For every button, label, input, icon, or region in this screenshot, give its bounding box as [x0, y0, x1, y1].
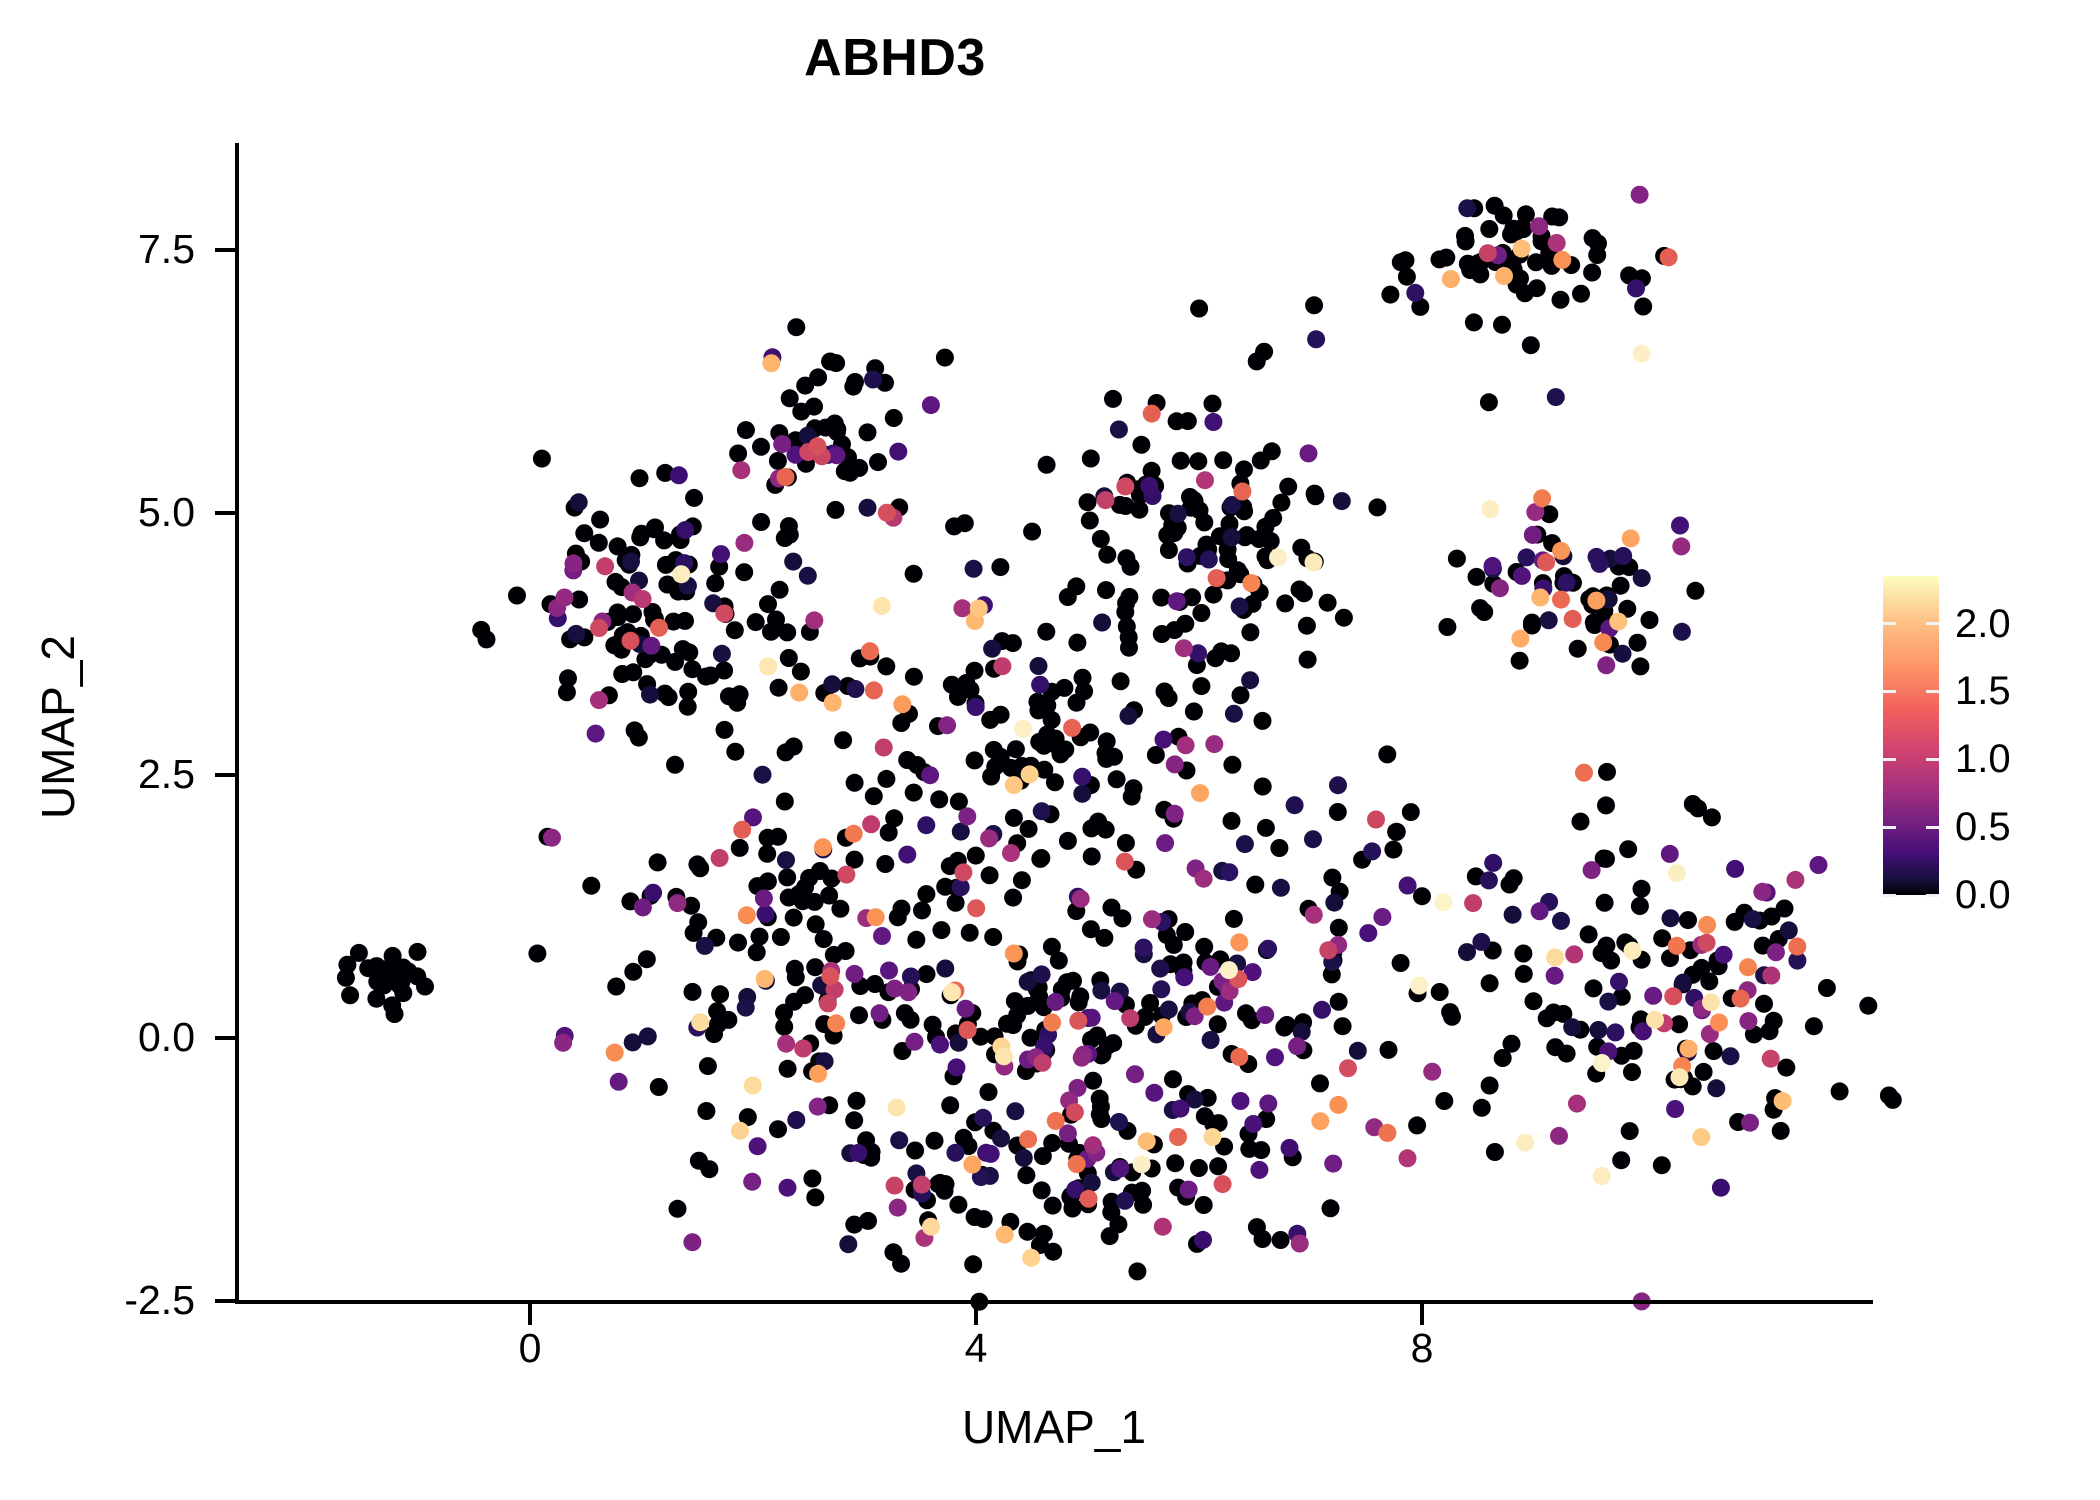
scatter-point — [649, 853, 667, 871]
scatter-point — [1248, 352, 1266, 370]
scatter-point — [1200, 551, 1218, 569]
scatter-point — [1594, 633, 1612, 651]
scatter-point — [1033, 965, 1051, 983]
colorbar-tick — [1883, 826, 1896, 829]
scatter-point — [1563, 1018, 1581, 1036]
scatter-point — [905, 668, 923, 686]
scatter-point — [726, 743, 744, 761]
scatter-point — [1486, 1143, 1504, 1161]
scatter-point — [1081, 512, 1099, 530]
scatter-point — [1097, 581, 1115, 599]
scatter-point — [706, 574, 724, 592]
scatter-point — [1257, 819, 1275, 837]
scatter-point — [1084, 1072, 1102, 1090]
scatter-point — [1082, 819, 1100, 837]
scatter-point — [1154, 1218, 1172, 1236]
scatter-point — [821, 967, 839, 985]
scatter-point — [772, 928, 790, 946]
scatter-point — [543, 829, 561, 847]
scatter-point — [1031, 850, 1049, 868]
scatter-point — [1755, 995, 1773, 1013]
scatter-point — [1223, 528, 1241, 546]
scatter-point — [1120, 707, 1138, 725]
scatter-point — [590, 691, 608, 709]
scatter-point — [1288, 1037, 1306, 1055]
scatter-point — [1072, 890, 1090, 908]
scatter-point — [1475, 603, 1493, 621]
scatter-point — [1614, 547, 1632, 565]
scatter-point — [720, 687, 738, 705]
scatter-point — [1568, 1095, 1586, 1113]
scatter-point — [1671, 1068, 1689, 1086]
scatter-points — [238, 143, 1870, 1302]
scatter-point — [749, 1137, 767, 1155]
scatter-point — [946, 1144, 964, 1162]
scatter-point — [948, 1058, 966, 1076]
scatter-point — [899, 983, 917, 1001]
scatter-point — [747, 613, 765, 631]
colorbar-tick — [1926, 622, 1939, 625]
scatter-point — [1442, 270, 1460, 288]
scatter-point — [1307, 330, 1325, 348]
scatter-point — [1495, 207, 1513, 225]
y-tick-label: 2.5 — [0, 754, 195, 795]
scatter-point — [981, 866, 999, 884]
scatter-point — [1593, 944, 1611, 962]
scatter-point — [1384, 841, 1402, 859]
scatter-point — [1448, 550, 1466, 568]
scatter-point — [877, 657, 895, 675]
scatter-point — [809, 437, 827, 455]
scatter-point — [683, 660, 701, 678]
scatter-point — [1266, 1048, 1284, 1066]
scatter-point — [961, 924, 979, 942]
scatter-point — [1166, 805, 1184, 823]
scatter-point — [1190, 1159, 1208, 1177]
scatter-point — [831, 900, 849, 918]
y-tick-mark — [215, 248, 237, 252]
scatter-point — [821, 353, 839, 371]
scatter-point — [1547, 388, 1565, 406]
scatter-point — [743, 1173, 761, 1191]
scatter-point — [1259, 940, 1277, 958]
scatter-point — [1050, 952, 1068, 970]
scatter-point — [641, 686, 659, 704]
scatter-point — [1209, 1157, 1227, 1175]
scatter-point — [1019, 1223, 1037, 1241]
scatter-point — [1168, 592, 1186, 610]
scatter-point — [970, 600, 988, 618]
scatter-point — [1473, 1099, 1491, 1117]
scatter-point — [1693, 959, 1711, 977]
scatter-point — [1064, 1198, 1082, 1216]
scatter-point — [1662, 909, 1680, 927]
scatter-point — [1305, 296, 1323, 314]
scatter-point — [1254, 1230, 1272, 1248]
scatter-point — [1633, 345, 1651, 363]
scatter-point — [624, 663, 642, 681]
scatter-point — [819, 994, 837, 1012]
scatter-point — [691, 1013, 709, 1031]
scatter-point — [1220, 961, 1238, 979]
scatter-point — [1367, 811, 1385, 829]
scatter-point — [779, 1060, 797, 1078]
scatter-point — [1572, 813, 1590, 831]
scatter-point — [794, 1040, 812, 1058]
scatter-point — [737, 421, 755, 439]
scatter-point — [1402, 803, 1420, 821]
scatter-point — [1191, 784, 1209, 802]
scatter-point — [1110, 1113, 1128, 1131]
scatter-point — [906, 1142, 924, 1160]
y-tick-label: 7.5 — [0, 229, 195, 270]
scatter-point — [1246, 876, 1264, 894]
scatter-point — [731, 839, 749, 857]
y-tick-mark — [215, 511, 237, 515]
scatter-point — [777, 743, 795, 761]
scatter-point — [1399, 877, 1417, 895]
scatter-point — [655, 531, 673, 549]
scatter-point — [1538, 1009, 1556, 1027]
scatter-point — [1880, 1087, 1898, 1105]
scatter-point — [607, 978, 625, 996]
scatter-point — [1019, 1130, 1037, 1148]
scatter-point — [1143, 405, 1161, 423]
scatter-point — [1195, 870, 1213, 888]
scatter-point — [998, 1015, 1016, 1033]
scatter-point — [1047, 1112, 1065, 1130]
scatter-point — [1073, 768, 1091, 786]
scatter-point — [1323, 869, 1341, 887]
scatter-point — [906, 1033, 924, 1051]
x-tick-mark — [528, 1303, 532, 1325]
scatter-point — [839, 1235, 857, 1253]
scatter-point — [956, 514, 974, 532]
scatter-point — [1030, 733, 1048, 751]
scatter-point — [570, 493, 588, 511]
scatter-point — [737, 999, 755, 1017]
scatter-point — [752, 438, 770, 456]
scatter-point — [778, 868, 796, 886]
scatter-point — [898, 846, 916, 864]
scatter-point — [1209, 1015, 1227, 1033]
scatter-point — [888, 1099, 906, 1117]
scatter-point — [873, 597, 891, 615]
scatter-point — [1762, 1050, 1780, 1068]
scatter-point — [917, 816, 935, 834]
scatter-point — [472, 621, 490, 639]
scatter-point — [1128, 1262, 1146, 1280]
scatter-point — [1859, 997, 1877, 1015]
scatter-point — [867, 908, 885, 926]
scatter-point — [1624, 942, 1642, 960]
scatter-point — [1192, 677, 1210, 695]
scatter-point — [758, 845, 776, 863]
scatter-point — [796, 377, 814, 395]
scatter-point — [823, 675, 841, 693]
scatter-point — [902, 1011, 920, 1029]
scatter-point — [848, 1092, 866, 1110]
scatter-point — [1254, 712, 1272, 730]
scatter-point — [1084, 1136, 1102, 1154]
scatter-point — [639, 1027, 657, 1045]
scatter-point — [1202, 958, 1220, 976]
scatter-point — [1612, 1151, 1630, 1169]
scatter-point — [1588, 548, 1606, 566]
scatter-point — [1269, 549, 1287, 567]
scatter-point — [861, 642, 879, 660]
scatter-point — [1299, 651, 1317, 669]
scatter-point — [1030, 657, 1048, 675]
scatter-point — [1634, 298, 1652, 316]
scatter-point — [902, 968, 920, 986]
scatter-point — [1165, 936, 1183, 954]
scatter-point — [1276, 594, 1294, 612]
scatter-point — [880, 824, 898, 842]
scatter-point — [1330, 919, 1348, 937]
scatter-point — [1002, 844, 1020, 862]
scatter-point — [1359, 924, 1377, 942]
scatter-point — [1631, 186, 1649, 204]
scatter-point — [1739, 1012, 1757, 1030]
scatter-point — [1598, 763, 1616, 781]
scatter-point — [1252, 1141, 1270, 1159]
scatter-point — [596, 557, 614, 575]
scatter-point — [1333, 492, 1351, 510]
scatter-point — [1143, 910, 1161, 928]
scatter-point — [991, 558, 1009, 576]
scatter-point — [1668, 937, 1686, 955]
scatter-point — [1043, 1134, 1061, 1152]
scatter-point — [837, 866, 855, 884]
scatter-point — [590, 619, 608, 637]
scatter-point — [1664, 987, 1682, 1005]
scatter-point — [811, 862, 829, 880]
scatter-point — [1335, 609, 1353, 627]
scatter-point — [814, 838, 832, 856]
scatter-point — [609, 604, 627, 622]
scatter-point — [1599, 993, 1617, 1011]
scatter-point — [876, 855, 894, 873]
scatter-point — [1230, 1048, 1248, 1066]
scatter-point — [846, 680, 864, 698]
scatter-point — [1179, 412, 1197, 430]
scatter-point — [1038, 456, 1056, 474]
scatter-point — [1484, 854, 1502, 872]
scatter-point — [1195, 938, 1213, 956]
scatter-point — [845, 1111, 863, 1129]
scatter-point — [1465, 313, 1483, 331]
scatter-point — [805, 611, 823, 629]
scatter-point — [650, 1078, 668, 1096]
scatter-point — [1111, 1160, 1129, 1178]
scatter-point — [1712, 1179, 1730, 1197]
y-tick-label: 0.0 — [0, 1017, 195, 1058]
scatter-point — [1270, 839, 1288, 857]
scatter-point — [985, 741, 1003, 759]
scatter-point — [1698, 916, 1716, 934]
scatter-point — [1112, 672, 1130, 690]
scatter-point — [622, 553, 640, 571]
scatter-point — [777, 1035, 795, 1053]
scatter-point — [1037, 623, 1055, 641]
scatter-point — [1220, 863, 1238, 881]
scatter-point — [1108, 770, 1126, 788]
scatter-point — [1459, 255, 1477, 273]
scatter-point — [1235, 460, 1253, 478]
scatter-point — [1196, 471, 1214, 489]
x-tick-label: 4 — [916, 1328, 1036, 1369]
colorbar-tick — [1883, 690, 1896, 693]
scatter-point — [386, 1005, 404, 1023]
scatter-point — [769, 452, 787, 470]
scatter-point — [893, 695, 911, 713]
scatter-point — [967, 847, 985, 865]
scatter-point — [650, 619, 668, 637]
scatter-point — [785, 909, 803, 927]
scatter-point — [1537, 553, 1555, 571]
scatter-point — [1156, 834, 1174, 852]
scatter-point — [1480, 871, 1498, 889]
scatter-point — [1653, 1156, 1671, 1174]
scatter-point — [1531, 589, 1549, 607]
scatter-point — [1596, 894, 1614, 912]
scatter-point — [1205, 586, 1223, 604]
scatter-point — [846, 774, 864, 792]
scatter-point — [965, 560, 983, 578]
colorbar-tick — [1926, 894, 1939, 897]
scatter-point — [943, 676, 961, 694]
scatter-point — [751, 928, 769, 946]
scatter-point — [1575, 764, 1593, 782]
scatter-point — [1686, 582, 1704, 600]
scatter-point — [1175, 968, 1193, 986]
scatter-point — [624, 605, 642, 623]
scatter-point — [922, 1218, 940, 1236]
scatter-point — [1514, 945, 1532, 963]
scatter-point — [1621, 1122, 1639, 1140]
scatter-point — [409, 943, 427, 961]
scatter-point — [1225, 705, 1243, 723]
scatter-point — [815, 930, 833, 948]
scatter-point — [1695, 1063, 1713, 1081]
scatter-point — [1241, 623, 1259, 641]
scatter-point — [1264, 509, 1282, 527]
scatter-point — [688, 855, 706, 873]
scatter-point — [1484, 557, 1502, 575]
scatter-point — [1066, 1103, 1084, 1121]
scatter-point — [890, 1131, 908, 1149]
scatter-point — [1761, 1022, 1779, 1040]
scatter-point — [1033, 1181, 1051, 1199]
scatter-point — [780, 517, 798, 535]
scatter-point — [1023, 523, 1041, 541]
scatter-point — [1082, 450, 1100, 468]
scatter-point — [1244, 1115, 1262, 1133]
scatter-point — [936, 960, 954, 978]
scatter-point — [631, 469, 649, 487]
scatter-point — [1203, 1128, 1221, 1146]
scatter-point — [1250, 1161, 1268, 1179]
scatter-point — [622, 632, 640, 650]
scatter-point — [931, 1174, 949, 1192]
scatter-point — [889, 443, 907, 461]
scatter-point — [1672, 537, 1690, 555]
scatter-point — [949, 1196, 967, 1214]
scatter-point — [1181, 488, 1199, 506]
scatter-point — [1189, 452, 1207, 470]
scatter-point — [941, 1096, 959, 1114]
scatter-point — [936, 349, 954, 367]
scatter-point — [992, 1129, 1010, 1147]
scatter-point — [1254, 778, 1272, 796]
scatter-point — [1169, 505, 1187, 523]
scatter-point — [1479, 244, 1497, 262]
scatter-point — [1153, 625, 1171, 643]
scatter-point — [1661, 845, 1679, 863]
scatter-point — [1252, 452, 1270, 470]
scatter-point — [554, 1034, 572, 1052]
scatter-point — [1022, 1249, 1040, 1267]
scatter-point — [1629, 634, 1647, 652]
scatter-point — [1198, 998, 1216, 1016]
scatter-point — [1533, 489, 1551, 507]
scatter-point — [759, 657, 777, 675]
scatter-point — [1593, 1054, 1611, 1072]
scatter-point — [1121, 1009, 1139, 1027]
scatter-point — [1513, 240, 1531, 258]
scatter-point — [732, 461, 750, 479]
scatter-point — [712, 545, 730, 563]
scatter-point — [1612, 577, 1630, 595]
scatter-point — [865, 787, 883, 805]
scatter-point — [684, 983, 702, 1001]
scatter-point — [880, 962, 898, 980]
scatter-point — [1256, 1006, 1274, 1024]
scatter-point — [1079, 493, 1097, 511]
scatter-point — [1272, 879, 1290, 897]
scatter-point — [834, 731, 852, 749]
scatter-point — [642, 637, 660, 655]
colorbar-tick-label: 0.5 — [1955, 807, 2011, 847]
scatter-point — [1472, 933, 1490, 951]
scatter-point — [1132, 436, 1150, 454]
scatter-point — [1528, 279, 1546, 297]
scatter-point — [1160, 1001, 1178, 1019]
colorbar-tick — [1883, 758, 1896, 761]
scatter-point — [773, 435, 791, 453]
scatter-point — [711, 985, 729, 1003]
scatter-point — [983, 640, 1001, 658]
scatter-point — [967, 698, 985, 716]
scatter-point — [1093, 614, 1111, 632]
scatter-point — [1117, 594, 1135, 612]
scatter-point — [1777, 1059, 1795, 1077]
scatter-point — [735, 534, 753, 552]
scatter-point — [1172, 452, 1190, 470]
y-tick-mark — [215, 1036, 237, 1040]
scatter-point — [1145, 1084, 1163, 1102]
scatter-point — [846, 965, 864, 983]
scatter-point — [1152, 589, 1170, 607]
scatter-point — [1313, 1001, 1331, 1019]
scatter-point — [886, 1177, 904, 1195]
scatter-point — [1242, 574, 1260, 592]
scatter-point — [1614, 645, 1632, 663]
scatter-point — [1504, 906, 1522, 924]
scatter-point — [1673, 623, 1691, 641]
scatter-point — [1818, 979, 1836, 997]
